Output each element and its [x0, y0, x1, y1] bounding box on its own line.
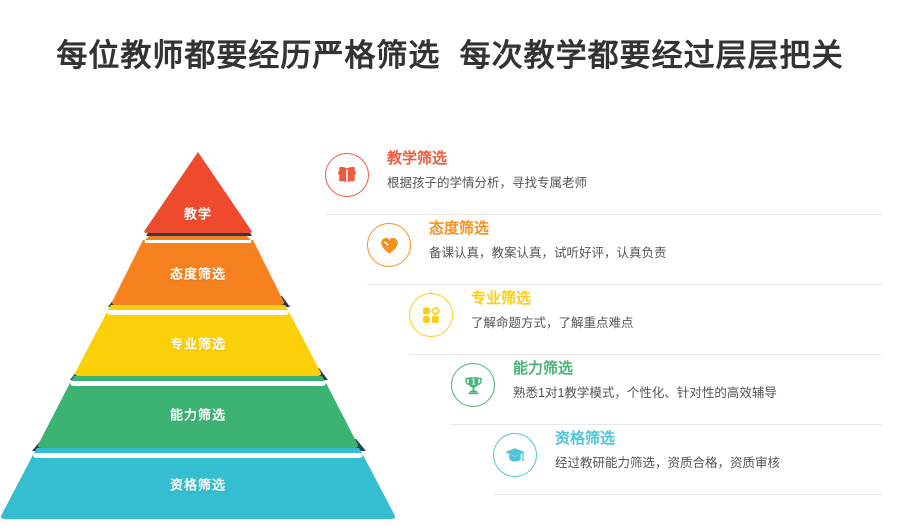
slide-root: 每位教师都要经历严格筛选 每次教学都要经过层层把关 教学 态度筛选 专业筛	[0, 0, 900, 530]
list-item-desc: 根据孩子的学情分析，寻找专属老师	[387, 175, 587, 191]
list-item-desc: 熟悉1对1教学模式，个性化、针对性的高效辅导	[513, 385, 777, 401]
list-separator	[493, 494, 882, 495]
list-item-title: 教学筛选	[387, 149, 587, 169]
trophy-icon: 1	[451, 363, 495, 407]
list-item-title: 能力筛选	[513, 359, 777, 379]
list-item[interactable]: 专业筛选 了解命题方式，了解重点难点	[325, 285, 900, 355]
pyramid-tier-label-4: 能力筛选	[170, 405, 226, 424]
list-item-desc: 备课认真，教案认真，试听好评，认真负责	[429, 245, 667, 261]
list-item-title: 态度筛选	[429, 219, 667, 239]
open-book-icon	[325, 153, 369, 197]
list-item[interactable]: 态度筛选 备课认真，教案认真，试听好评，认真负责	[325, 215, 900, 285]
list-item[interactable]: 教学筛选 根据孩子的学情分析，寻找专属老师	[325, 145, 900, 215]
list-item-desc: 经过教研能力筛选，资质合格，资质审核	[555, 455, 780, 471]
pyramid-tier-label-3: 专业筛选	[170, 334, 226, 353]
pyramid-tier-label-1: 教学	[184, 204, 212, 223]
list-item-desc: 了解命题方式，了解重点难点	[471, 315, 634, 331]
list-item-title: 资格筛选	[555, 429, 780, 449]
svg-text:1: 1	[471, 377, 476, 386]
heart-icon	[367, 223, 411, 267]
screening-steps-list: 教学筛选 根据孩子的学情分析，寻找专属老师 态度筛选 备课认真，教案认真，试听好…	[325, 145, 900, 495]
pyramid-tier-label-5: 资格筛选	[170, 475, 226, 494]
pyramid-tier-label-2: 态度筛选	[170, 264, 226, 283]
list-item[interactable]: 1 能力筛选 熟悉1对1教学模式，个性化、针对性的高效辅导	[325, 355, 900, 425]
graduation-cap-icon	[493, 433, 537, 477]
list-item-title: 专业筛选	[471, 289, 634, 309]
list-item[interactable]: 资格筛选 经过教研能力筛选，资质合格，资质审核	[325, 425, 900, 495]
four-squares-icon	[409, 293, 453, 337]
page-title: 每位教师都要经历严格筛选 每次教学都要经过层层把关	[0, 30, 900, 75]
